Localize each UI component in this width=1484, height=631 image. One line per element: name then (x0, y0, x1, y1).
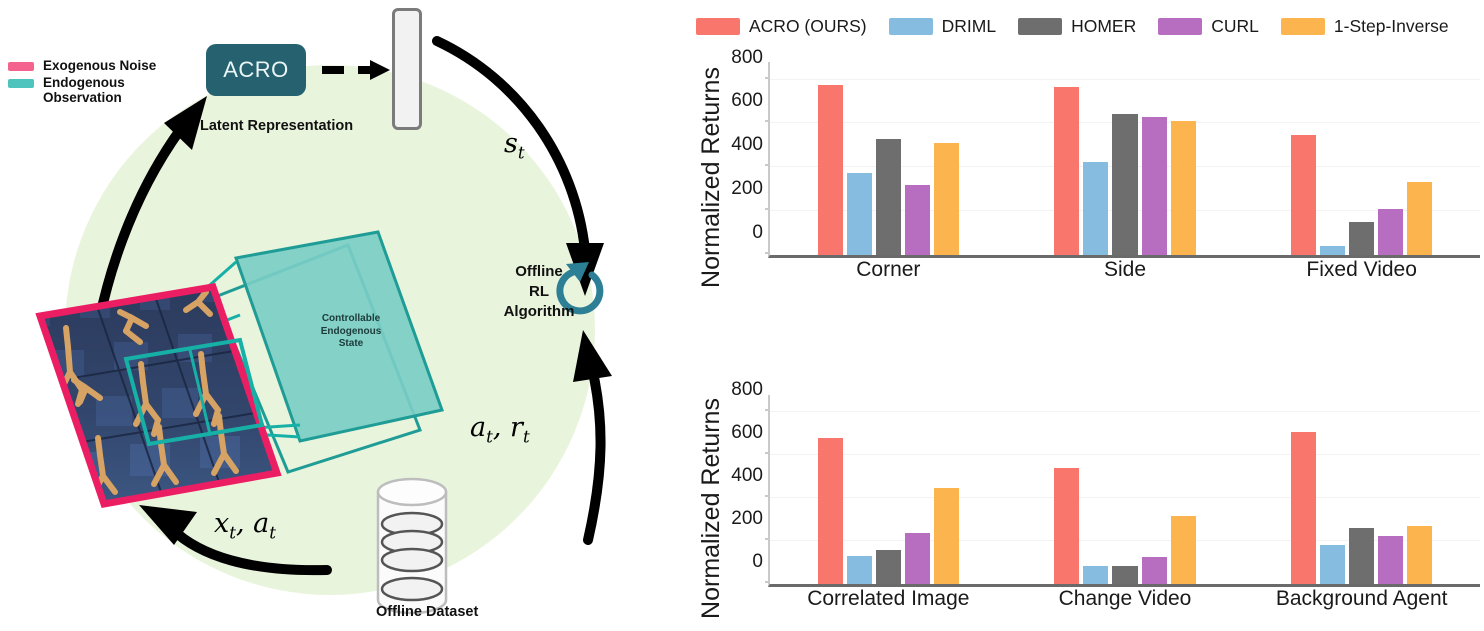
y-tick-label-0: 0 (752, 551, 763, 573)
bar-side-driml (1083, 162, 1108, 255)
y-tick-label-0: 0 (752, 222, 763, 244)
exogenous-noise-swatch (8, 62, 34, 71)
math-comma-1: , (493, 412, 502, 443)
bar-change-video-driml (1083, 566, 1108, 584)
bar-fixed-video-acro-ours (1291, 135, 1316, 255)
math-state-symbol: s (504, 128, 518, 159)
y-tick-mark-400 (765, 164, 770, 166)
y-tick-label-600: 600 (731, 422, 763, 444)
latent-representation-bar (392, 8, 422, 130)
diagram-legend: Exogenous Noise Endogenous Observation (8, 58, 218, 107)
bar-background-agent-driml (1320, 545, 1345, 584)
offline-dataset-cylinder (378, 479, 446, 613)
bar-corner-curl (905, 185, 930, 255)
math-obs-symbol: x (214, 508, 229, 539)
math-comma-2: , (236, 508, 245, 539)
y-tick-mark-600 (765, 452, 770, 454)
offline-rl-line-2: RL (489, 282, 589, 302)
legend-label-3: CURL (1211, 16, 1259, 37)
legend-item-curl[interactable]: CURL (1158, 16, 1259, 37)
x-tick-label-background-agent: Background Agent (1276, 587, 1448, 611)
legend-item-endogenous-observation: Endogenous Observation (8, 75, 218, 105)
bar-change-video-homer (1112, 566, 1137, 584)
bar-change-video-curl (1142, 557, 1167, 584)
legend-item-exogenous-noise: Exogenous Noise (8, 58, 218, 73)
y-tick-label-400: 400 (731, 465, 763, 487)
endogenous-observation-label: Endogenous Observation (43, 75, 139, 105)
bar-side-curl (1142, 117, 1167, 255)
y-tick-label-200: 200 (731, 508, 763, 530)
offline-rl-line-1: Offline (489, 262, 589, 282)
legend-swatch-2 (1018, 18, 1062, 35)
chart-legend: ACRO (OURS)DRIMLHOMERCURL1-Step-Inverse (690, 8, 1484, 44)
x-tick-label-correlated-image: Correlated Image (807, 587, 969, 611)
x-tick-label-corner: Corner (856, 258, 920, 282)
math-action-subscript-2: t (269, 522, 276, 542)
bar-change-video-1-step-inverse (1171, 516, 1196, 584)
bar-correlated-image-acro-ours (818, 438, 843, 584)
legend-item-1-step-inverse[interactable]: 1-Step-Inverse (1281, 16, 1449, 37)
bar-correlated-image-1-step-inverse (934, 488, 959, 584)
bar-change-video-acro-ours (1054, 468, 1079, 584)
math-action-symbol-2: a (253, 508, 269, 539)
legend-swatch-4 (1281, 18, 1325, 35)
bar-fixed-video-1-step-inverse (1407, 182, 1432, 255)
method-diagram: Exogenous Noise Endogenous Observation A… (0, 0, 690, 631)
math-label-action-reward: at, rt (470, 412, 530, 446)
legend-item-acro-ours[interactable]: ACRO (OURS) (696, 16, 867, 37)
bar-corner-homer (876, 139, 901, 255)
legend-label-1: DRIML (942, 16, 996, 37)
gridline-800 (770, 411, 1480, 412)
math-reward-symbol: r (510, 412, 523, 443)
legend-item-homer[interactable]: HOMER (1018, 16, 1136, 37)
bar-side-acro-ours (1054, 87, 1079, 255)
legend-label-4: 1-Step-Inverse (1334, 16, 1449, 37)
y-tick-mark-600 (765, 120, 770, 122)
bar-fixed-video-curl (1378, 209, 1403, 255)
offline-rl-algorithm-label: Offline RL Algorithm (489, 262, 589, 322)
y-tick-mark-0 (765, 252, 770, 254)
math-reward-subscript: t (523, 426, 530, 446)
y-tick-mark-200 (765, 538, 770, 540)
y-tick-label-200: 200 (731, 178, 763, 200)
chart-bottom: Normalized Returns 0200400600800Correlat… (690, 385, 1484, 631)
bar-background-agent-curl (1378, 536, 1403, 584)
ces-line-1: Controllable (296, 313, 406, 326)
legend-label-2: HOMER (1071, 16, 1136, 37)
endogenous-observation-swatch (8, 79, 34, 88)
y-tick-label-800: 800 (731, 47, 763, 69)
y-tick-mark-0 (765, 581, 770, 583)
math-action-symbol: a (470, 412, 486, 443)
chart-bottom-y-axis-label: Normalized Returns (694, 385, 728, 631)
y-tick-label-800: 800 (731, 379, 763, 401)
chart-bottom-y-axis-label-text: Normalized Returns (697, 398, 726, 619)
bar-side-homer (1112, 114, 1137, 255)
bar-side-1-step-inverse (1171, 121, 1196, 255)
gridline-400 (770, 497, 1480, 498)
legend-swatch-0 (696, 18, 740, 35)
y-tick-label-600: 600 (731, 90, 763, 112)
bar-background-agent-1-step-inverse (1407, 526, 1432, 584)
legend-swatch-3 (1158, 18, 1202, 35)
chart-top-y-axis-label-text: Normalized Returns (697, 67, 726, 288)
bar-corner-acro-ours (818, 85, 843, 255)
controllable-endogenous-state-label: Controllable Endogenous State (296, 313, 406, 351)
x-tick-label-change-video: Change Video (1059, 587, 1192, 611)
math-label-obs-action: xt, at (214, 508, 276, 542)
legend-label-0: ACRO (OURS) (749, 16, 867, 37)
bar-corner-driml (847, 173, 872, 255)
results-charts-panel: ACRO (OURS)DRIMLHOMERCURL1-Step-Inverse … (690, 0, 1484, 631)
y-tick-label-400: 400 (731, 134, 763, 156)
offline-dataset-label: Offline Dataset (376, 604, 478, 620)
math-action-subscript: t (486, 426, 493, 446)
bar-background-agent-acro-ours (1291, 432, 1316, 584)
math-state-subscript: t (518, 142, 525, 162)
bar-correlated-image-homer (876, 550, 901, 584)
bar-correlated-image-driml (847, 556, 872, 584)
y-tick-mark-400 (765, 495, 770, 497)
arrow-rl-to-dataset (573, 330, 612, 540)
x-tick-label-fixed-video: Fixed Video (1306, 258, 1417, 282)
chart-top-y-axis-label: Normalized Returns (694, 52, 728, 302)
chart-top-plot-area: 0200400600800CornerSideFixed Video (768, 62, 1480, 258)
gridline-600 (770, 454, 1480, 455)
acro-model-box: ACRO (206, 44, 306, 96)
x-tick-label-side: Side (1104, 258, 1146, 282)
exogenous-noise-label: Exogenous Noise (43, 58, 156, 73)
bar-correlated-image-curl (905, 533, 930, 584)
y-tick-mark-800 (765, 409, 770, 411)
chart-top-bars: 0200400600800CornerSideFixed Video (770, 62, 1480, 255)
y-tick-mark-800 (765, 77, 770, 79)
bar-fixed-video-driml (1320, 246, 1345, 255)
chart-bottom-bars: 0200400600800Correlated ImageChange Vide… (770, 395, 1480, 584)
ces-line-3: State (296, 338, 406, 351)
y-tick-mark-200 (765, 208, 770, 210)
bar-background-agent-homer (1349, 528, 1374, 584)
chart-bottom-plot-area: 0200400600800Correlated ImageChange Vide… (768, 395, 1480, 587)
latent-representation-label: Latent Representation (200, 118, 353, 134)
chart-top: Normalized Returns 0200400600800CornerSi… (690, 52, 1484, 302)
math-label-state: st (504, 128, 525, 162)
math-obs-subscript: t (229, 522, 236, 542)
acro-model-label: ACRO (223, 57, 289, 83)
bar-corner-1-step-inverse (934, 143, 959, 255)
ces-line-2: Endogenous (296, 326, 406, 339)
offline-rl-line-3: Algorithm (489, 302, 589, 322)
bar-fixed-video-homer (1349, 222, 1374, 255)
gridline-800 (770, 79, 1480, 80)
legend-item-driml[interactable]: DRIML (889, 16, 996, 37)
legend-swatch-1 (889, 18, 933, 35)
